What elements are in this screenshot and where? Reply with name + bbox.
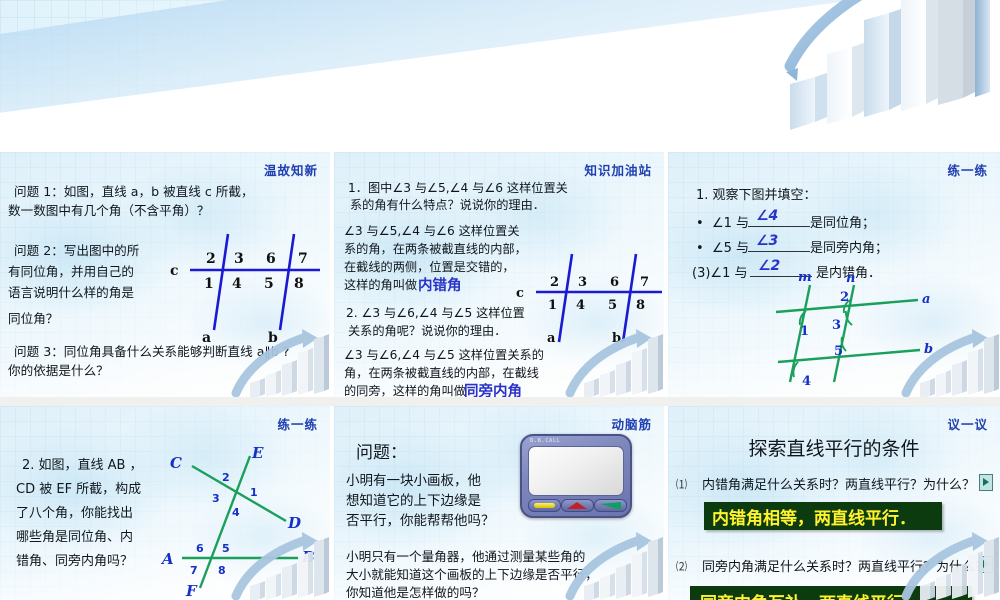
svg-text:2: 2	[206, 251, 216, 267]
svg-text:6: 6	[610, 275, 619, 290]
panel-bar-chart-decoration	[884, 516, 1000, 600]
svg-text:4: 4	[576, 298, 585, 313]
practice1-item-1-suffix: 是同位角；	[810, 212, 875, 231]
panel-bar-chart-decoration	[884, 313, 1000, 397]
svg-text:1: 1	[800, 324, 809, 339]
practice2-line-5: 错角、同旁内角吗？	[16, 550, 133, 569]
svg-text:5: 5	[264, 276, 274, 292]
slide-banner	[0, 0, 1000, 148]
brain-teaser-line-6: 你知道他是怎样做的吗？	[346, 582, 485, 600]
svg-text:m: m	[798, 270, 812, 285]
ks-a2-line-2: 角，在两条被截直线的内部，在截线	[344, 364, 574, 382]
slide-stage: 温故知新 问题 1：如图，直线 a，b 被直线 c 所截， 数一数图中有几个角（…	[0, 0, 1000, 600]
review-question-2-line-4: 同位角？	[8, 308, 173, 329]
svg-text:5: 5	[608, 298, 617, 313]
ks-a1-line-4: 这样的角叫做	[344, 276, 417, 294]
svg-text:C: C	[170, 454, 182, 472]
brain-teaser-line-1: 小明有一块小画板，他	[346, 469, 481, 489]
practice1-item-3-prefix: (3)∠1 与	[692, 262, 747, 281]
svg-text:c: c	[170, 263, 179, 279]
practice2-line-3: 了八个角，你能找出	[16, 502, 133, 521]
svg-text:2: 2	[840, 290, 849, 305]
yellow-bar-icon	[534, 503, 555, 508]
svg-text:1: 1	[548, 298, 557, 313]
panel-header-practice-2: 练一练	[277, 414, 318, 433]
svg-text:3: 3	[234, 251, 244, 267]
panel-practice-1: 练一练 1. 观察下图并填空： • ∠1 与 ∠4 是同位角； • ∠5 与 ∠…	[668, 152, 1000, 397]
pager-button-red[interactable]	[561, 499, 594, 512]
panel-header-discussion: 议一议	[947, 414, 988, 433]
panel-gutter-top	[0, 148, 1000, 152]
panel-brain-teaser: 动脑筋 问题： 小明有一块小画板，他 想知道它的上下边缘是 否平行，你能帮帮他吗…	[334, 406, 664, 600]
panel-discussion: 议一议 探索直线平行的条件 ⑴ 内错角满足什么关系时？两直线平行？为什么？ 内错…	[668, 406, 1000, 600]
svg-text:4: 4	[232, 276, 242, 292]
svg-text:a: a	[922, 292, 930, 307]
panel-header-knowledge-station: 知识加油站	[584, 160, 652, 179]
svg-text:8: 8	[636, 298, 645, 313]
svg-text:6: 6	[266, 251, 276, 267]
svg-text:8: 8	[294, 276, 304, 292]
svg-text:3: 3	[212, 492, 220, 505]
svg-text:A: A	[160, 550, 174, 568]
practice2-line-2: CD 被 EF 所截，构成	[16, 478, 141, 497]
panel-header-brain-teaser: 动脑筋	[611, 414, 652, 433]
review-question-2-line-2: 有同位角，并用自己的	[8, 261, 173, 282]
panel-bar-chart-decoration	[548, 516, 664, 600]
brain-teaser-line-3: 否平行，你能帮帮他吗？	[346, 509, 495, 529]
svg-text:7: 7	[640, 275, 649, 290]
practice2-line-1: 2. 如图，直线 AB ，	[22, 454, 143, 473]
panel-header-practice-1: 练一练	[947, 160, 988, 179]
panel-gutter-h1	[0, 397, 1000, 406]
practice1-item-1-prefix: • ∠1 与	[696, 212, 749, 231]
panel-bar-chart-decoration	[548, 313, 664, 397]
panel-gutter-v2	[664, 148, 668, 600]
pager-button-yellow[interactable]	[528, 499, 561, 512]
panel-practice-2: 练一练 2. 如图，直线 AB ， CD 被 EF 所截，构成 了八个角，你能找…	[0, 406, 330, 600]
svg-text:3: 3	[578, 275, 587, 290]
svg-text:7: 7	[298, 251, 308, 267]
svg-text:2: 2	[222, 471, 230, 484]
svg-text:a: a	[202, 330, 211, 346]
discussion-question-1: 内错角满足什么关系时？两直线平行？为什么？	[702, 474, 975, 493]
pager-button-green[interactable]	[594, 499, 627, 512]
svg-text:5: 5	[834, 344, 843, 359]
ks-a1-line-1: ∠3 与∠5,∠4 与∠6 这样位置关	[344, 222, 549, 240]
svg-text:1: 1	[250, 486, 258, 499]
keyword-internal-alternate-angles: 内错角	[418, 274, 462, 295]
discussion-marker-2: ⑵	[676, 558, 687, 574]
green-arrow-icon	[600, 502, 621, 510]
pager-screen	[528, 446, 624, 496]
practice1-answer-1: ∠4	[756, 208, 778, 224]
svg-text:6: 6	[196, 542, 204, 555]
panel-knowledge-station: 知识加油站 1．图中∠3 与∠5,∠4 与∠6 这样位置关 系的角有什么特点？说…	[334, 152, 664, 397]
svg-text:F: F	[185, 582, 198, 600]
discussion-title: 探索直线平行的条件	[668, 434, 1000, 461]
keyword-same-side-interior-angles: 同旁内角	[464, 380, 522, 397]
panel-review: 温故知新 问题 1：如图，直线 a，b 被直线 c 所截， 数一数图中有几个角（…	[0, 152, 330, 397]
ks-q1-line-2: 系的角有什么特点？说说你的理由．	[350, 197, 650, 214]
svg-text:E: E	[251, 444, 264, 462]
review-question-1-line-2: 数一数图中有几个角（不含平角）？	[8, 201, 324, 220]
red-triangle-icon	[567, 502, 588, 510]
practice1-item-2-suffix: 是同旁内角；	[810, 237, 888, 256]
practice1-answer-2: ∠3	[756, 233, 778, 249]
svg-text:7: 7	[190, 564, 198, 577]
review-question-2-line-3: 语言说明什么样的角是	[8, 282, 173, 303]
practice1-instruction: 1. 观察下图并填空：	[696, 184, 817, 203]
practice1-blank-2[interactable]	[748, 251, 810, 252]
pager-brand-label: B.B.CALL	[530, 438, 561, 444]
svg-text:c: c	[516, 286, 524, 301]
svg-text:1: 1	[204, 276, 214, 292]
ks-q1-line-1: 1．图中∠3 与∠5,∠4 与∠6 这样位置关	[348, 180, 648, 197]
practice1-blank-1[interactable]	[748, 226, 810, 227]
brain-teaser-label: 问题：	[356, 438, 407, 463]
panel-gutter-v1	[330, 148, 334, 600]
bar-chart-growth-icon	[690, 0, 990, 144]
panel-bar-chart-decoration	[214, 516, 330, 600]
practice2-line-4: 哪些角是同位角、内	[16, 526, 133, 545]
svg-text:2: 2	[550, 275, 559, 290]
svg-text:n: n	[846, 271, 855, 286]
review-question-1-line-1: 问题 1：如图，直线 a，b 被直线 c 所截，	[14, 182, 324, 201]
panel-header-review: 温故知新	[264, 160, 318, 179]
ks-a2-line-1: ∠3 与∠6,∠4 与∠5 这样位置关系的	[344, 346, 574, 364]
review-question-2-line-1: 问题 2：写出图中的所	[14, 240, 174, 261]
play-link-icon-1[interactable]	[979, 474, 993, 491]
svg-text:4: 4	[802, 374, 811, 389]
discussion-marker-1: ⑴	[676, 476, 687, 492]
practice1-item-2-prefix: • ∠5 与	[696, 237, 749, 256]
svg-text:3: 3	[832, 318, 841, 333]
pager-device[interactable]: B.B.CALL	[520, 434, 632, 518]
brain-teaser-line-2: 想知道它的上下边缘是	[346, 489, 481, 509]
panel-bar-chart-decoration	[214, 313, 330, 397]
ks-a2-line-3: 的同旁，这样的角叫做	[344, 382, 466, 397]
